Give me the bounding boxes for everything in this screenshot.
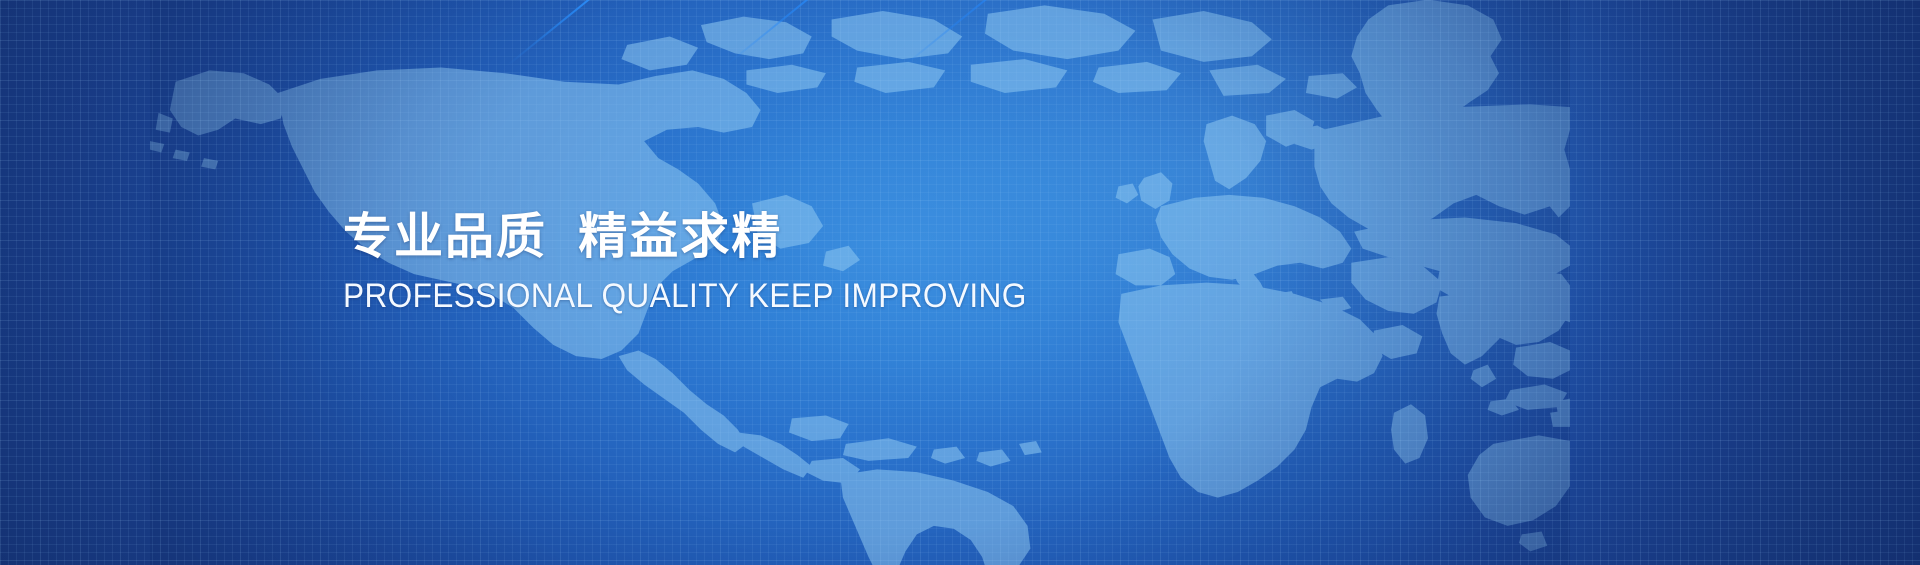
hero-banner: 专业品质 精益求精 PROFESSIONAL QUALITY KEEP IMPR… <box>0 0 1920 565</box>
banner-copy: 专业品质 精益求精 PROFESSIONAL QUALITY KEEP IMPR… <box>343 206 1343 318</box>
headline-chinese: 专业品质 精益求精 <box>343 206 1343 268</box>
headline-english: PROFESSIONAL QUALITY KEEP IMPROVING <box>343 268 1273 318</box>
